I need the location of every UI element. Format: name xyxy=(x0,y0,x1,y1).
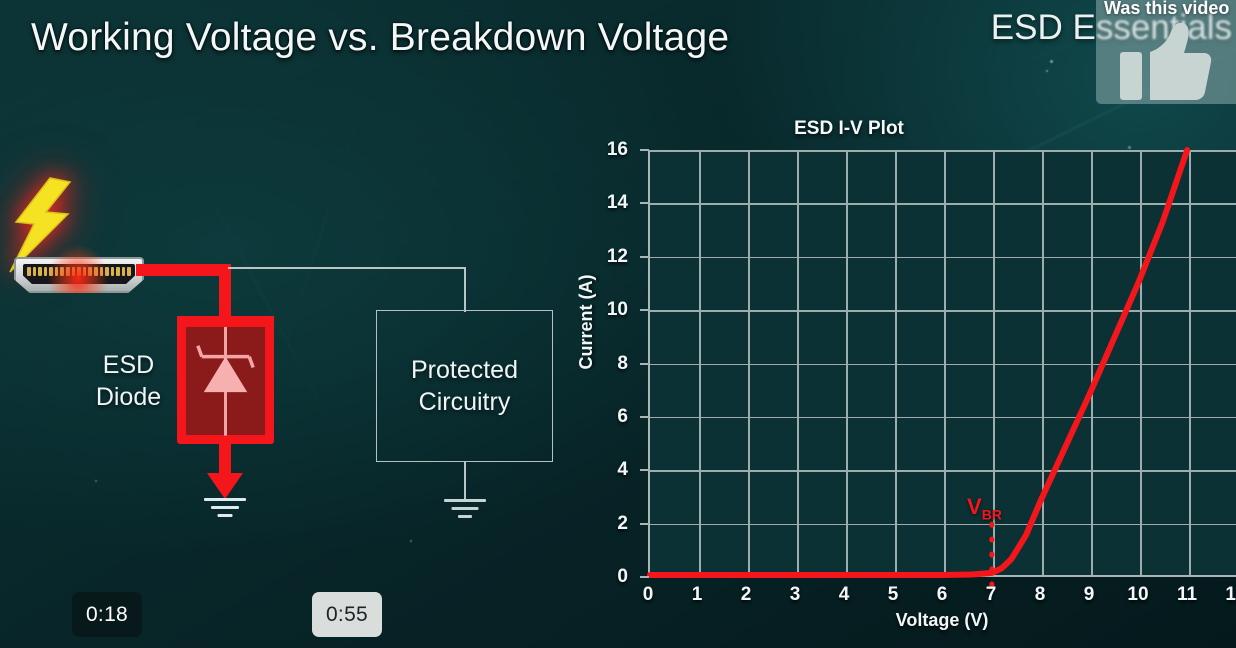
chart-y-tick-mark xyxy=(640,416,649,418)
chart-y-tick-mark xyxy=(640,149,649,151)
chart-x-tick-label: 2 xyxy=(741,584,752,606)
chart-y-tick-label: 0 xyxy=(617,566,628,588)
chart-x-tick-label: 7 xyxy=(986,584,997,606)
chart-x-tick-label: 3 xyxy=(790,584,801,606)
esd-diode-label-line1: ESD xyxy=(86,350,171,382)
signal-wire-vertical xyxy=(464,267,466,312)
hdmi-connector-icon xyxy=(14,257,144,293)
thumbs-up-icon[interactable] xyxy=(1120,22,1212,102)
chart-y-tick-label: 8 xyxy=(617,353,628,375)
chart-y-tick-mark xyxy=(640,256,649,258)
chart-x-tick-label: 0 xyxy=(643,584,654,606)
connector-pins xyxy=(27,267,131,276)
background-particle xyxy=(1050,60,1053,63)
chart-y-tick-label: 16 xyxy=(607,139,628,161)
wire-connector-to-node xyxy=(136,264,231,276)
ground-symbol-icon xyxy=(204,498,246,520)
chart-y-tick-mark xyxy=(640,202,649,204)
signal-wire-horizontal xyxy=(228,267,466,269)
chart-y-tick-mark xyxy=(640,363,649,365)
chart-title: ESD I-V Plot xyxy=(580,118,1236,140)
esd-diode-label: ESD Diode xyxy=(86,350,171,414)
chart-x-tick-label: 1 xyxy=(692,584,703,606)
chart-x-tick-label: 5 xyxy=(888,584,899,606)
vbr-label-main: V xyxy=(967,494,982,519)
chart-y-tick-label: 10 xyxy=(607,299,628,321)
protected-ground-symbol-icon xyxy=(444,499,486,521)
chart-y-tick-label: 14 xyxy=(607,192,628,214)
chart-series-line xyxy=(650,150,1187,575)
esd-iv-chart: ESD I-V Plot Current (A) Voltage (V) 024… xyxy=(580,110,1236,648)
chart-x-tick-label: 6 xyxy=(937,584,948,606)
chart-y-tick-mark xyxy=(640,576,649,578)
timestamp-chip-target[interactable]: 0:55 xyxy=(312,592,382,637)
chart-x-tick-label: 10 xyxy=(1127,584,1148,606)
timestamp-chip-current[interactable]: 0:18 xyxy=(72,592,142,637)
background-particle xyxy=(1046,70,1048,72)
chart-y-tick-mark xyxy=(640,523,649,525)
page-title: Working Voltage vs. Breakdown Voltage xyxy=(31,16,729,60)
chart-x-axis-label: Voltage (V) xyxy=(648,610,1236,631)
protected-circuitry-label: Protected Circuitry xyxy=(377,311,552,461)
chart-x-tick-label: 12 xyxy=(1225,584,1236,606)
chart-y-tick-label: 4 xyxy=(617,459,628,481)
chart-y-tick-mark xyxy=(640,469,649,471)
chart-x-tick-label: 9 xyxy=(1084,584,1095,606)
chart-y-tick-label: 2 xyxy=(617,513,628,535)
shunt-current-arrow-icon xyxy=(205,473,245,499)
protected-circuitry-box: Protected Circuitry xyxy=(376,310,553,462)
chart-y-tick-label: 12 xyxy=(607,246,628,268)
chart-plot-area xyxy=(648,150,1236,577)
tvs-zener-diode-icon xyxy=(186,327,265,436)
vbr-annotation-label: VBR xyxy=(967,494,1002,522)
esd-diode-label-line2: Diode xyxy=(86,382,171,414)
chart-x-tick-label: 8 xyxy=(1035,584,1046,606)
protected-label-line1: Protected xyxy=(411,354,518,387)
chart-y-axis-label: Current (A) xyxy=(576,275,597,370)
esd-diode-box xyxy=(177,318,274,444)
circuit-diagram: ESD Diode Protected Circuitry xyxy=(0,150,600,570)
overlay-question-text: Was this video xyxy=(1104,0,1236,19)
chart-x-tick-label: 11 xyxy=(1177,584,1197,606)
chart-series-layer xyxy=(650,150,1236,575)
vbr-label-sub: BR xyxy=(982,506,1002,522)
protected-ground-wire xyxy=(464,461,466,501)
video-feedback-overlay[interactable]: Was this video xyxy=(1096,0,1236,104)
chart-y-tick-mark xyxy=(640,309,649,311)
chart-y-tick-label: 6 xyxy=(617,406,628,428)
protected-label-line2: Circuitry xyxy=(419,386,511,419)
chart-x-tick-label: 4 xyxy=(839,584,850,606)
